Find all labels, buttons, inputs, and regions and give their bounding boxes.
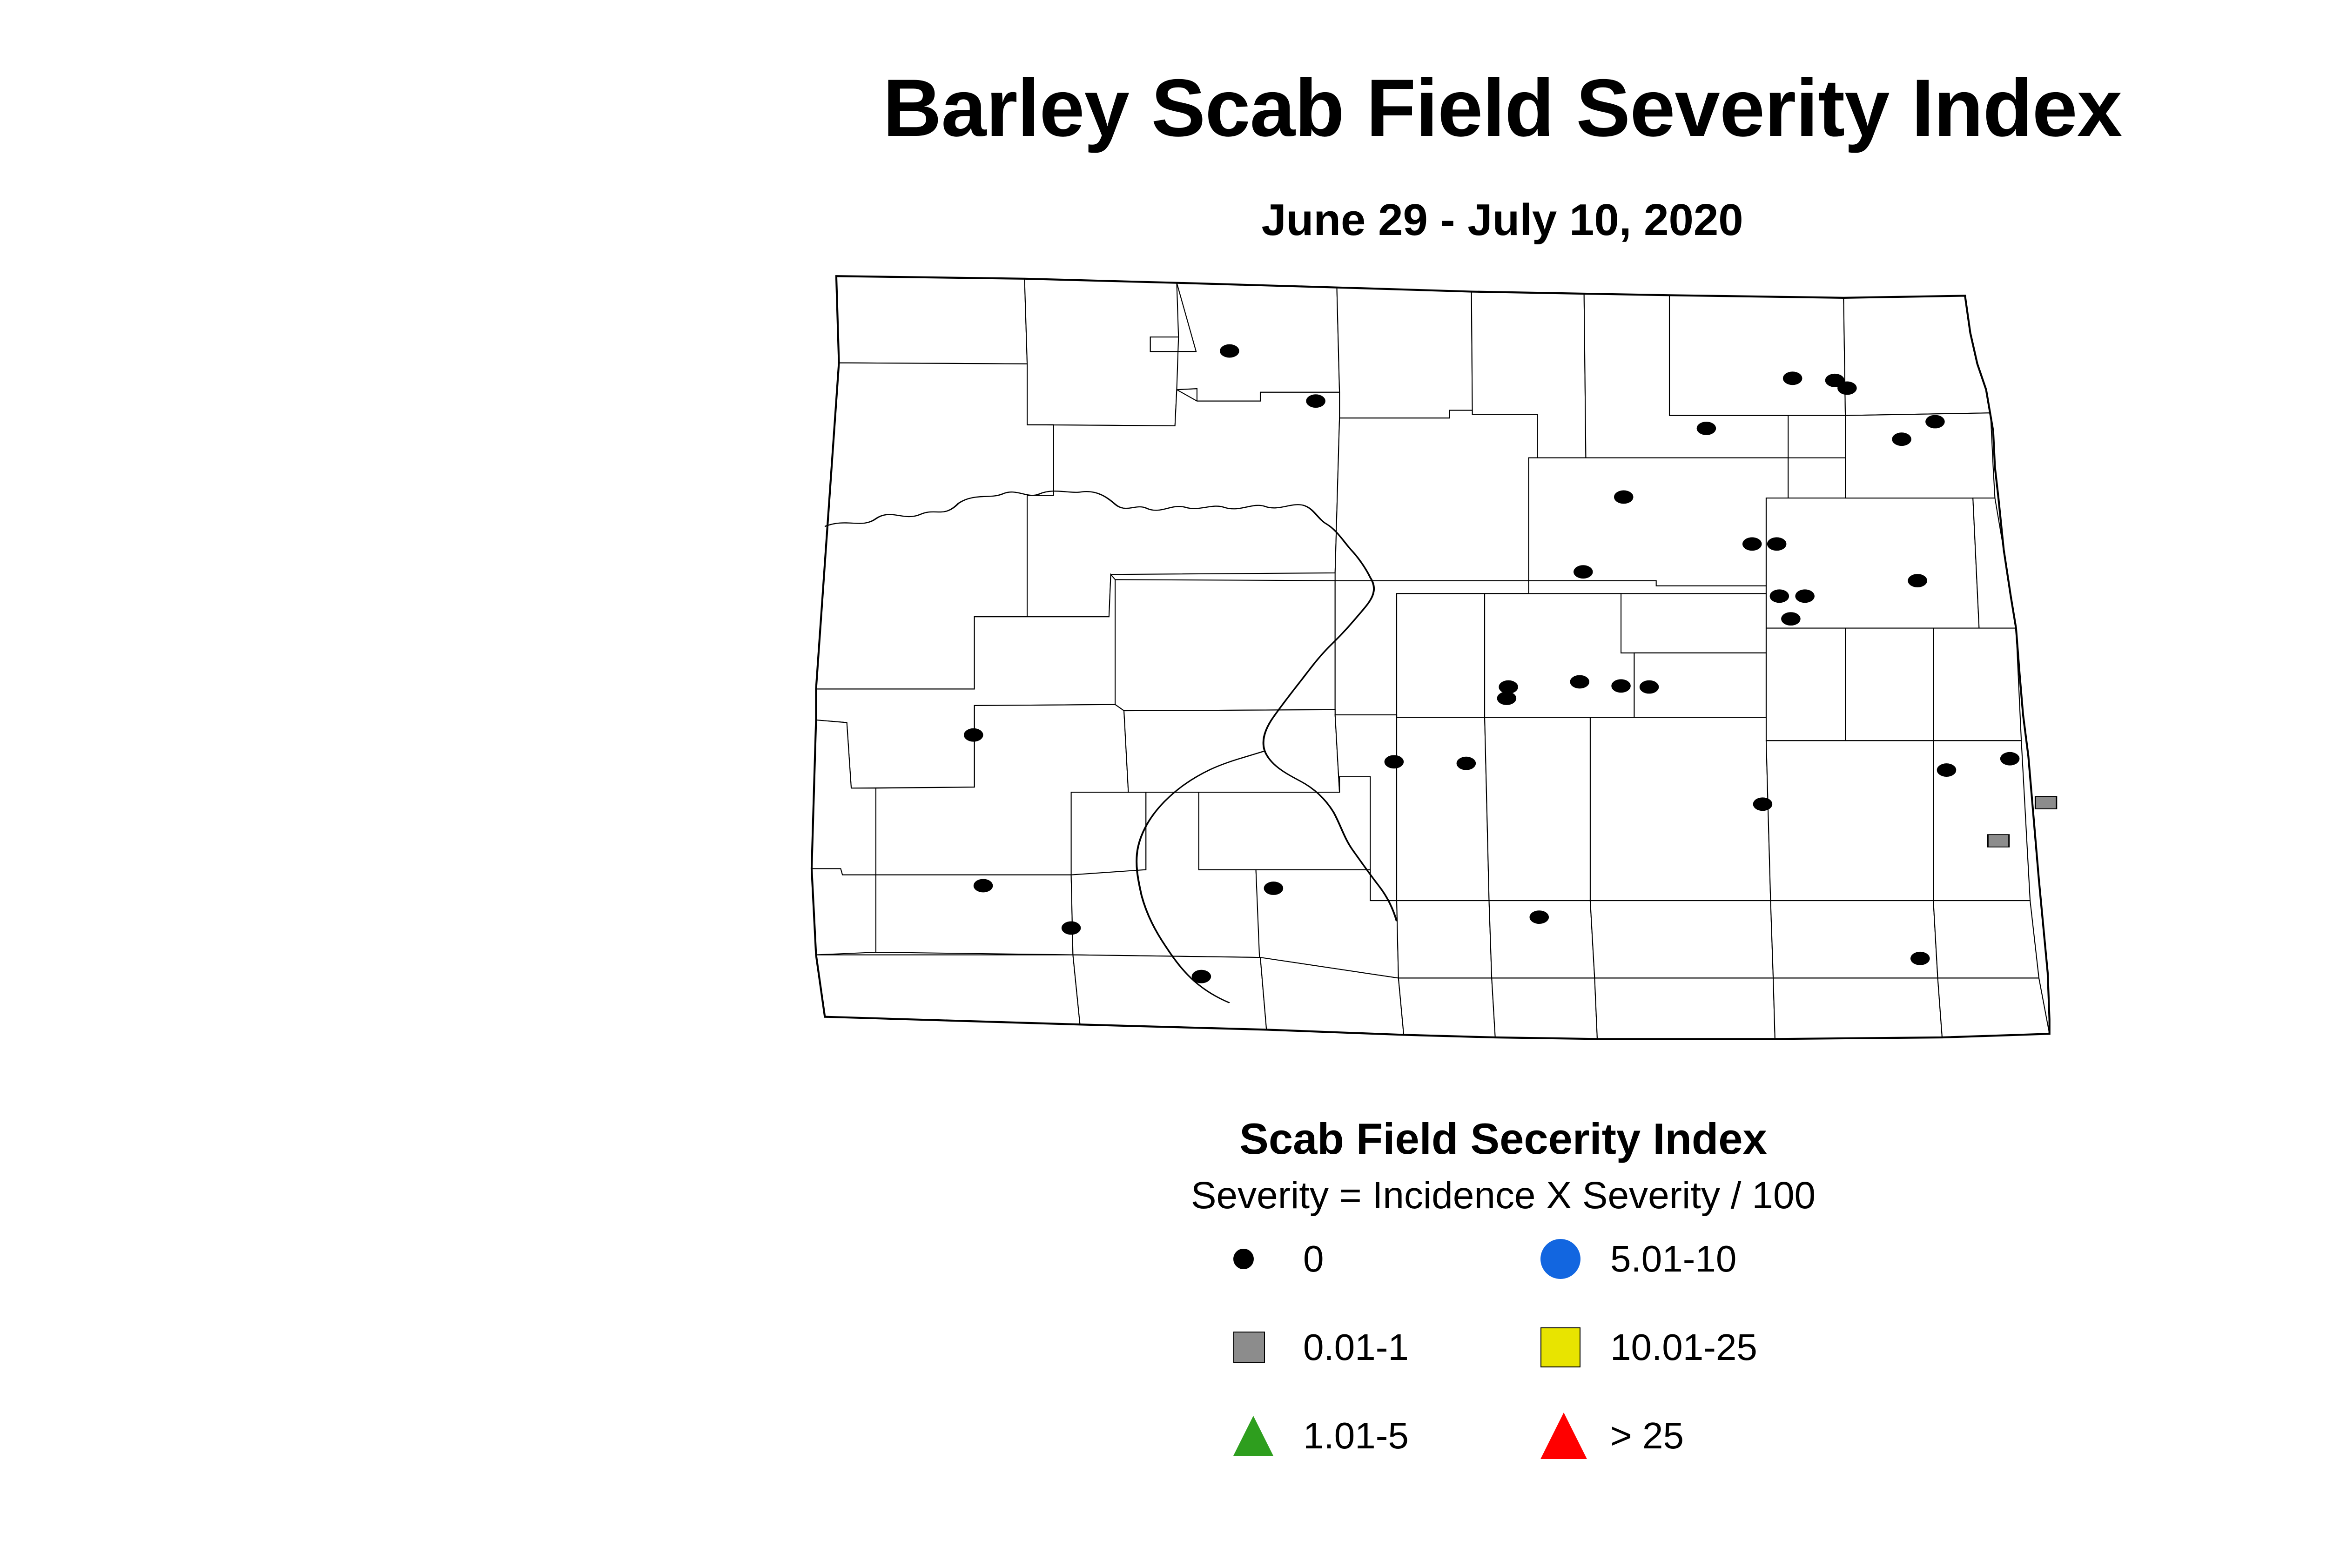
county-sargent (1773, 978, 1942, 1039)
map-figure-page: Barley Scab Field Severity Index June 29… (0, 0, 2327, 1568)
data-point-circle (1892, 432, 1911, 446)
legend-swatch-triangle-red (1540, 1413, 1587, 1459)
nd-county-map-svg (763, 261, 2127, 1066)
legend-swatch-triangle-green (1233, 1416, 1273, 1456)
county-divide (836, 276, 1027, 364)
data-point-circle (1192, 970, 1211, 983)
county-barnes (1766, 740, 1933, 901)
data-point-circle (1937, 763, 1957, 777)
county-renville (1150, 283, 1339, 401)
data-point-circle (1220, 344, 1239, 358)
county-emmons (1397, 901, 1492, 978)
legend-label-5: > 25 (1610, 1410, 1684, 1461)
data-point-circle (1264, 882, 1284, 895)
legend-label-3: 5.01-10 (1610, 1233, 1736, 1285)
data-point-circle (974, 879, 993, 893)
county-burke (1024, 279, 1197, 426)
data-point-circle (1457, 757, 1476, 770)
legend-label-2: 1.01-5 (1303, 1410, 1409, 1461)
county-dunn (1115, 579, 1335, 711)
county-benson (1766, 498, 1979, 628)
data-point-circle (1795, 589, 1815, 603)
county-ransom (1770, 901, 1937, 978)
county-richland-s (1938, 978, 2050, 1037)
county-dickey (1594, 978, 1775, 1039)
county-layer (812, 276, 2050, 1039)
legend-swatch-square-yellow (1540, 1327, 1580, 1367)
data-point-circle (1062, 921, 1081, 935)
data-point-circle (1529, 910, 1549, 924)
legend-label-4: 10.01-25 (1610, 1322, 1757, 1373)
north-dakota-map (763, 261, 2127, 1066)
county-walsh (1973, 498, 2016, 628)
data-point-circle (1697, 422, 1716, 435)
data-point-circle (1925, 415, 1945, 429)
county-pierce-notch (1788, 458, 1845, 498)
county-grant (1071, 792, 1260, 957)
data-point-circle (1611, 679, 1631, 693)
data-point-circle (1767, 537, 1787, 551)
data-point-circle (1753, 797, 1773, 811)
data-point-circle (1570, 675, 1589, 689)
data-point-circle (1385, 755, 1404, 768)
data-point-circle (1770, 589, 1789, 603)
county-bowman (816, 955, 1080, 1025)
county-mchenry (1529, 458, 1789, 586)
county-kidder (1485, 717, 1594, 901)
county-mcintosh (1492, 978, 1597, 1039)
legend-formula: Severity = Incidence X Severity / 100 (1015, 1177, 1992, 1215)
legend-label-1: 0.01-1 (1303, 1322, 1409, 1373)
page-subtitle: June 29 - July 10, 2020 (0, 198, 2327, 242)
page-title: Barley Scab Field Severity Index (0, 67, 2327, 149)
legend-label-0: 0 (1303, 1233, 1324, 1285)
data-point-square (1988, 834, 2009, 847)
data-point-square (2035, 796, 2056, 809)
data-point-circle (1837, 382, 1857, 395)
data-point-circle (1781, 612, 1801, 626)
data-point-circle (1908, 574, 1927, 587)
county-cavalier (1669, 295, 1845, 415)
data-point-circle (964, 728, 983, 742)
legend-heading: Scab Field Secerity Index (1015, 1117, 1992, 1161)
county-steele (1845, 628, 1933, 741)
county-ramsey (1845, 413, 1995, 498)
county-richland (1933, 901, 2039, 978)
data-point-circle (1910, 952, 1930, 965)
data-point-circle (2000, 752, 2020, 766)
county-burleigh (1397, 717, 1489, 901)
data-point-circle (1306, 394, 1325, 408)
data-point-circle (1742, 537, 1762, 551)
county-lamoure (1590, 901, 1773, 978)
legend-swatch-square-gray (1233, 1332, 1265, 1363)
county-sheridan (1397, 593, 1485, 717)
data-point-circle (1574, 565, 1593, 579)
map-legend: Scab Field Secerity Index Severity = Inc… (1015, 1117, 1992, 1536)
data-point-circle (1614, 490, 1634, 504)
data-point-circle (1497, 692, 1517, 705)
county-stutsman (1590, 717, 1771, 901)
data-point-circle (1640, 680, 1659, 694)
county-bottineau (1337, 288, 1472, 418)
county-slope-west (812, 868, 876, 955)
legend-swatch-circle-blue (1540, 1239, 1580, 1279)
data-point-circle (1783, 371, 1802, 385)
county-adams (1073, 955, 1266, 1030)
county-emmons-s (1399, 978, 1495, 1037)
county-ward (1335, 411, 1538, 581)
legend-swatch-circle-black (1233, 1249, 1254, 1269)
county-eddy (1621, 593, 1766, 653)
data-point-circle (1499, 680, 1518, 694)
county-traill (1933, 628, 2021, 741)
